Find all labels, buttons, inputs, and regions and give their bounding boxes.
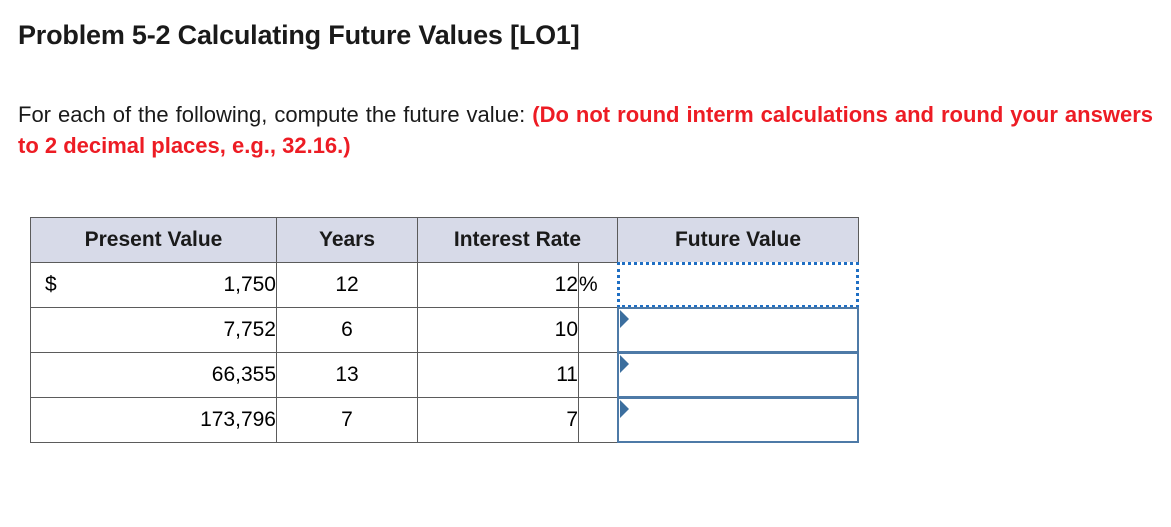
present-value-amount: 7,752 (223, 318, 276, 341)
cell-interest-rate: 10 (418, 308, 579, 353)
page-title: Problem 5-2 Calculating Future Values [L… (18, 20, 1159, 51)
table-row: 173,796 7 7 (31, 398, 859, 443)
cell-present-value: $ 1,750 (31, 263, 277, 308)
table-row: $ 1,750 12 12 % (31, 263, 859, 308)
cell-years: 12 (277, 263, 418, 308)
future-value-input[interactable] (617, 307, 859, 353)
percent-symbol (579, 308, 618, 353)
future-value-input-active[interactable] (617, 262, 859, 308)
present-value-amount: 66,355 (212, 363, 276, 386)
problem-instructions: For each of the following, compute the f… (18, 99, 1153, 161)
cell-years: 7 (277, 398, 418, 443)
cell-future-value[interactable] (618, 263, 859, 308)
table-row: 7,752 6 10 (31, 308, 859, 353)
column-header-interest-rate: Interest Rate (418, 218, 618, 263)
column-header-years: Years (277, 218, 418, 263)
present-value-amount: 1,750 (223, 273, 276, 296)
percent-symbol (579, 398, 618, 443)
instruction-lead: For each of the following, compute the f… (18, 102, 525, 127)
cell-years: 13 (277, 353, 418, 398)
percent-symbol: % (579, 263, 618, 308)
table-row: 66,355 13 11 (31, 353, 859, 398)
cell-corner-marker-icon (620, 310, 629, 328)
percent-symbol (579, 353, 618, 398)
cell-corner-marker-icon (620, 355, 629, 373)
column-header-future-value: Future Value (618, 218, 859, 263)
cell-future-value[interactable] (618, 398, 859, 443)
present-value-amount: 173,796 (200, 408, 276, 431)
cell-years: 6 (277, 308, 418, 353)
future-value-table-wrapper: Present Value Years Interest Rate Future… (30, 217, 1159, 443)
cell-present-value: 7,752 (31, 308, 277, 353)
cell-present-value: 66,355 (31, 353, 277, 398)
future-value-input[interactable] (617, 397, 859, 443)
cell-present-value: 173,796 (31, 398, 277, 443)
table-header-row: Present Value Years Interest Rate Future… (31, 218, 859, 263)
cell-interest-rate: 7 (418, 398, 579, 443)
future-value-input[interactable] (617, 352, 859, 398)
document-page: Problem 5-2 Calculating Future Values [L… (0, 0, 1171, 527)
currency-symbol: $ (45, 273, 57, 297)
cell-corner-marker-icon (620, 400, 629, 418)
cell-interest-rate: 12 (418, 263, 579, 308)
future-value-table: Present Value Years Interest Rate Future… (30, 217, 859, 443)
cell-future-value[interactable] (618, 353, 859, 398)
cell-interest-rate: 11 (418, 353, 579, 398)
column-header-present-value: Present Value (31, 218, 277, 263)
cell-future-value[interactable] (618, 308, 859, 353)
